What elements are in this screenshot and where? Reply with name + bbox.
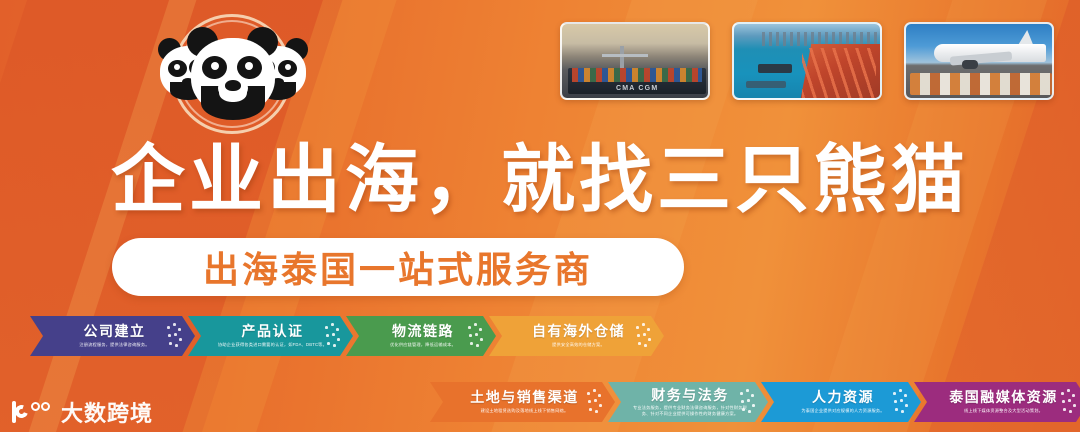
container-ship-port-photo: CMA CGM: [560, 22, 710, 100]
service-badge-title: 泰国融媒体资源: [949, 390, 1058, 405]
photo-caption: CMA CGM: [616, 85, 658, 92]
service-badge-product-certification[interactable]: 产品认证 协助企业获得各类进口需要的认证，如FDA、DBTC等。: [188, 316, 353, 356]
service-badge-sub: 专业法务服务，提供专业财务法律咨询服务，针对性财务税务、针对不同企业提供可操作性…: [632, 405, 748, 416]
dots-icon: [324, 323, 340, 349]
marketing-banner: CMA CGM 企业出海，就找三只熊猫 出海泰国一站式服务商 公司建立 注册流程…: [0, 0, 1080, 432]
dots-icon: [1060, 389, 1076, 415]
service-badge-human-resources[interactable]: 人力资源 为泰国企业提供对应规模的人力资源服务。: [761, 382, 921, 422]
dashukuajing-logo-icon: [12, 399, 54, 425]
aerial-port-cranes-photo: [732, 22, 882, 100]
cargo-airplane-photo: [904, 22, 1054, 100]
dots-icon: [635, 323, 651, 349]
dots-icon: [166, 323, 182, 349]
headline-text: 企业出海，就找三只熊猫: [0, 143, 1080, 217]
service-badge-title: 公司建立: [84, 324, 146, 339]
service-badge-finance-legal[interactable]: 财务与法务 专业法务服务，提供专业财务法律咨询服务，针对性财务税务、针对不同企业…: [608, 382, 768, 422]
dots-icon: [892, 389, 908, 415]
subtitle-pill: 出海泰国一站式服务商: [112, 238, 684, 296]
panda-center-icon: [185, 26, 281, 122]
service-badge-title: 产品认证: [242, 324, 304, 339]
service-badge-sub: 协助企业获得各类进口需要的认证，如FDA、DBTC等。: [218, 342, 327, 348]
watermark: 大数跨境: [12, 396, 153, 428]
watermark-label: 大数跨境: [61, 396, 153, 428]
service-badge-land-sales-channel[interactable]: 土地与销售渠道 建设土地租赁选购及落地线上线下销售网络。: [430, 382, 615, 422]
service-badge-sub: 建设土地租赁选购及落地线上线下销售网络。: [481, 408, 569, 414]
service-badge-sub: 注册流程服务，提供法律咨询服务。: [79, 342, 149, 348]
dots-icon: [467, 323, 483, 349]
service-badge-logistics[interactable]: 物流链路 优化供应链管理，降低运输成本。: [346, 316, 496, 356]
three-panda-logo: [152, 8, 312, 136]
service-badge-sub: 优化供应链管理，降低运输成本。: [390, 342, 456, 348]
subtitle-text: 出海泰国一站式服务商: [203, 241, 593, 293]
service-badge-sub: 线上线下媒体资源整合及大型活动策划。: [964, 408, 1043, 414]
service-badge-sub: 提供安全高效的仓储方案。: [552, 342, 605, 348]
dots-icon: [586, 389, 602, 415]
photo-strip: CMA CGM: [560, 22, 1054, 100]
service-badge-title: 人力资源: [812, 390, 874, 405]
service-badge-title: 土地与销售渠道: [470, 390, 579, 405]
service-badge-overseas-warehouse[interactable]: 自有海外仓储 提供安全高效的仓储方案。: [489, 316, 664, 356]
service-badge-title: 自有海外仓储: [532, 324, 625, 339]
service-badge-title: 物流链路: [392, 324, 454, 339]
service-row-1: 公司建立 注册流程服务，提供法律咨询服务。 产品认证 协助企业获得各类进口需要的…: [30, 316, 657, 356]
service-badge-sub: 为泰国企业提供对应规模的人力资源服务。: [801, 408, 884, 414]
service-badge-company-setup[interactable]: 公司建立 注册流程服务，提供法律咨询服务。: [30, 316, 195, 356]
service-badge-title: 财务与法务: [651, 388, 729, 403]
service-row-2: 土地与销售渠道 建设土地租赁选购及落地线上线下销售网络。 财务与法务 专业法务服…: [430, 382, 1080, 422]
dots-icon: [739, 389, 755, 415]
service-badge-thailand-media[interactable]: 泰国融媒体资源 线上线下媒体资源整合及大型活动策划。: [914, 382, 1080, 422]
